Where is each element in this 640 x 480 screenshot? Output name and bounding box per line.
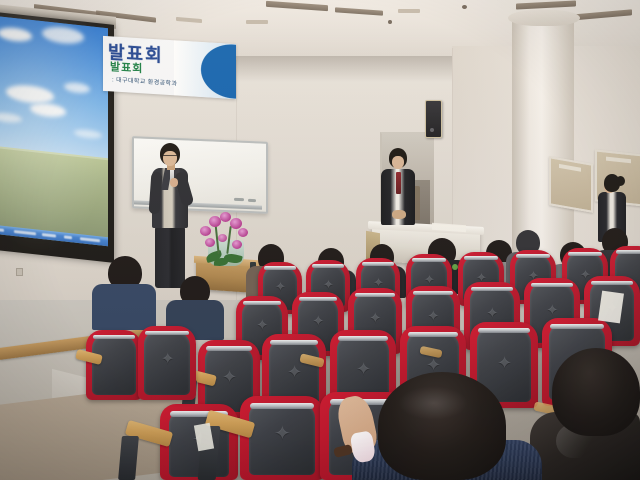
notice-strip bbox=[606, 157, 631, 164]
orchid-bloom bbox=[238, 228, 248, 237]
projection-screen bbox=[0, 11, 114, 263]
presenter-legs bbox=[155, 226, 185, 288]
notice-board bbox=[549, 156, 593, 213]
presenter-hand bbox=[170, 178, 178, 187]
event-banner: 발표회 발표회 : 대구대학교 환경공학과 bbox=[103, 36, 236, 99]
auditorium-seat[interactable]: ✦ bbox=[138, 326, 196, 400]
whiteboard-marker bbox=[234, 198, 244, 201]
orchid-bloom bbox=[200, 226, 211, 236]
suited-man-face-front bbox=[392, 156, 404, 169]
audience-body bbox=[92, 284, 156, 330]
ceiling-sensor bbox=[462, 5, 467, 9]
handout-paper bbox=[598, 291, 624, 324]
ceiling-vent bbox=[398, 9, 420, 13]
hair-bun bbox=[616, 176, 625, 186]
wall-outlet-icon bbox=[16, 268, 23, 276]
auditorium-seat[interactable] bbox=[86, 330, 142, 400]
orchid-bloom bbox=[232, 240, 242, 249]
orchid-bloom bbox=[205, 238, 215, 247]
speaker-driver bbox=[430, 128, 434, 132]
eyeglasses-icon bbox=[163, 155, 177, 160]
clasped-hands bbox=[392, 210, 406, 219]
orchid-bloom bbox=[220, 212, 231, 222]
notice-strip bbox=[559, 164, 581, 172]
projected-slide-image bbox=[0, 15, 108, 246]
necktie bbox=[396, 172, 401, 194]
wall-speaker-icon bbox=[425, 100, 442, 138]
auditorium-photo: 발표회 발표회 : 대구대학교 환경공학과 bbox=[0, 0, 640, 480]
foreground-man-hair bbox=[552, 348, 640, 436]
hair-highlight bbox=[398, 386, 468, 420]
orchid-bloom bbox=[218, 234, 227, 242]
whiteboard-eraser bbox=[248, 199, 256, 202]
ceiling-vent bbox=[246, 20, 268, 24]
auditorium-seat[interactable]: ✦ bbox=[240, 396, 324, 480]
ceiling-sensor bbox=[388, 20, 392, 24]
pillar-cap bbox=[508, 10, 580, 26]
